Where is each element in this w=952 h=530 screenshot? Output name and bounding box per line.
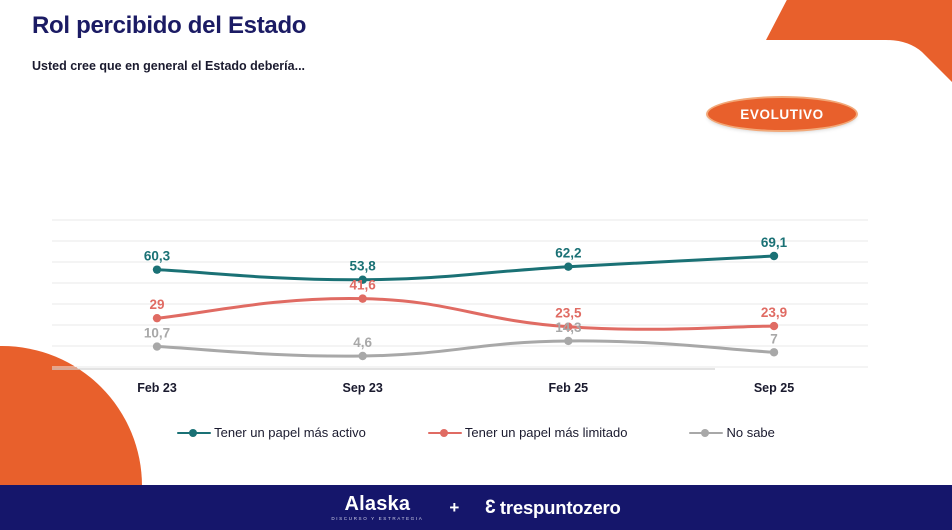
data-point[interactable]	[770, 252, 778, 260]
data-label: 62,2	[555, 246, 581, 261]
alaska-logo: Alaska DISCURSO Y ESTRATEGIA	[331, 494, 423, 522]
data-label: 23,9	[761, 305, 787, 320]
legend-item-activo[interactable]: Tener un papel más activo	[177, 425, 366, 440]
legend-item-nosabe[interactable]: No sabe	[689, 425, 774, 440]
data-point[interactable]	[153, 314, 161, 322]
data-label: 4,6	[353, 335, 372, 350]
trespuntozero-logo-name: trespuntozero	[500, 497, 621, 519]
legend-swatch-icon	[689, 427, 723, 439]
data-point[interactable]	[358, 294, 366, 302]
legend-swatch-icon	[177, 427, 211, 439]
data-point[interactable]	[153, 265, 161, 273]
series-line-2	[157, 341, 774, 356]
data-label: 53,8	[350, 259, 377, 274]
data-label: 60,3	[144, 249, 171, 264]
alaska-logo-name: Alaska	[345, 494, 411, 514]
legend-swatch-icon	[428, 427, 462, 439]
line-chart: 60,353,862,269,12941,623,523,910,74,614,…	[0, 0, 952, 470]
data-point[interactable]	[770, 322, 778, 330]
data-label: 29	[149, 297, 164, 312]
footer-bar: Alaska DISCURSO Y ESTRATEGIA + 3 trespun…	[0, 485, 952, 530]
legend-label-limitado: Tener un papel más limitado	[465, 425, 628, 440]
data-label: 14,3	[555, 320, 582, 335]
data-label: 69,1	[761, 235, 788, 250]
trespuntozero-mark-icon: 3	[485, 497, 496, 519]
x-axis-tick-label: Sep 23	[343, 381, 383, 395]
trespuntozero-logo: 3 trespuntozero	[485, 497, 620, 519]
legend-label-activo: Tener un papel más activo	[214, 425, 366, 440]
plus-separator: +	[449, 498, 459, 518]
legend-label-nosabe: No sabe	[726, 425, 774, 440]
data-point[interactable]	[564, 262, 572, 270]
data-label: 7	[770, 331, 778, 346]
data-point[interactable]	[564, 337, 572, 345]
data-label: 23,5	[555, 306, 582, 321]
chart-legend: Tener un papel más activo Tener un papel…	[0, 425, 952, 440]
data-point[interactable]	[770, 348, 778, 356]
data-label: 10,7	[144, 326, 170, 341]
x-axis-tick-label: Feb 23	[137, 381, 177, 395]
data-point[interactable]	[153, 342, 161, 350]
slide-root: Rol percibido del Estado Usted cree que …	[0, 0, 952, 530]
x-axis-tick-label: Feb 25	[549, 381, 589, 395]
alaska-logo-tagline: DISCURSO Y ESTRATEGIA	[331, 517, 423, 522]
data-point[interactable]	[358, 352, 366, 360]
legend-item-limitado[interactable]: Tener un papel más limitado	[428, 425, 628, 440]
x-axis-tick-label: Sep 25	[754, 381, 794, 395]
series-line-0	[157, 256, 774, 280]
data-label: 41,6	[350, 278, 377, 293]
chart-canvas: 60,353,862,269,12941,623,523,910,74,614,…	[0, 0, 952, 470]
